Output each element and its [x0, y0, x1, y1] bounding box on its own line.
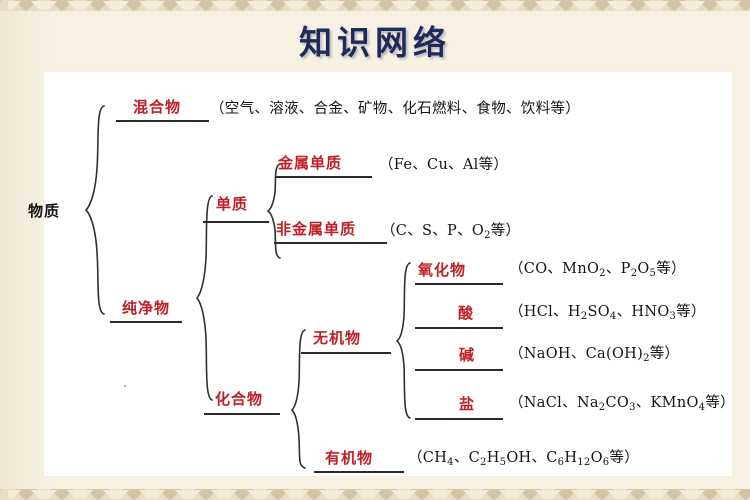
examples-organic: （CH4、C2H5OH、C6H12O6等）: [408, 446, 639, 468]
examples-oxide: （CO、MnO2、P2O5等）: [509, 257, 686, 279]
node-oxide: 氧化物: [418, 262, 466, 278]
underline-element: [203, 221, 269, 223]
examples-metal-text: （Fe、Cu、Al等）: [379, 157, 508, 173]
underline-inorganic: [301, 352, 391, 354]
examples-salt: （NaCl、Na2CO3、KMnO4等）: [509, 391, 735, 413]
node-element: 单质: [216, 196, 248, 212]
underline-pure-substance: [110, 321, 182, 323]
examples-mixture: （空气、溶液、合金、矿物、化石燃料、食物、饮料等）: [210, 97, 580, 118]
scan-speck: [124, 385, 126, 387]
node-base: 碱: [459, 347, 475, 363]
node-salt: 盐: [459, 396, 475, 412]
underline-compound: [204, 413, 280, 415]
underline-acid: [415, 327, 503, 329]
underline-metal-element: [276, 176, 372, 178]
examples-nonmetal-element: （C、S、P、O2等）: [381, 219, 520, 241]
node-compound: 化合物: [215, 391, 263, 407]
bottom-border-ornament: [0, 489, 750, 500]
underline-salt: [415, 418, 503, 420]
underline-mixture: [116, 120, 209, 122]
slide-page: 知识网络 物质 混合物 （空气、溶液、合金、矿物、化石燃料、食物: [0, 0, 750, 500]
node-organic: 有机物: [325, 450, 373, 466]
node-root-substance: 物质: [28, 203, 60, 219]
underline-organic: [314, 471, 404, 473]
node-nonmetal-element: 非金属单质: [276, 221, 356, 237]
underline-oxide: [415, 283, 503, 285]
node-pure-substance: 纯净物: [122, 300, 170, 316]
node-mixture: 混合物: [133, 99, 181, 115]
examples-base: （NaOH、Ca(OH)2等）: [509, 342, 679, 364]
node-acid: 酸: [458, 305, 474, 321]
examples-metal-element: （Fe、Cu、Al等）: [379, 153, 508, 174]
underline-nonmetal-element: [274, 242, 387, 244]
underline-base: [415, 369, 503, 371]
node-metal-element: 金属单质: [278, 155, 342, 171]
examples-acid: （HCl、H2SO4、HNO3等）: [509, 300, 706, 322]
top-border-ornament: [0, 0, 750, 11]
page-title: 知识网络: [0, 16, 750, 64]
node-inorganic: 无机物: [313, 330, 361, 346]
